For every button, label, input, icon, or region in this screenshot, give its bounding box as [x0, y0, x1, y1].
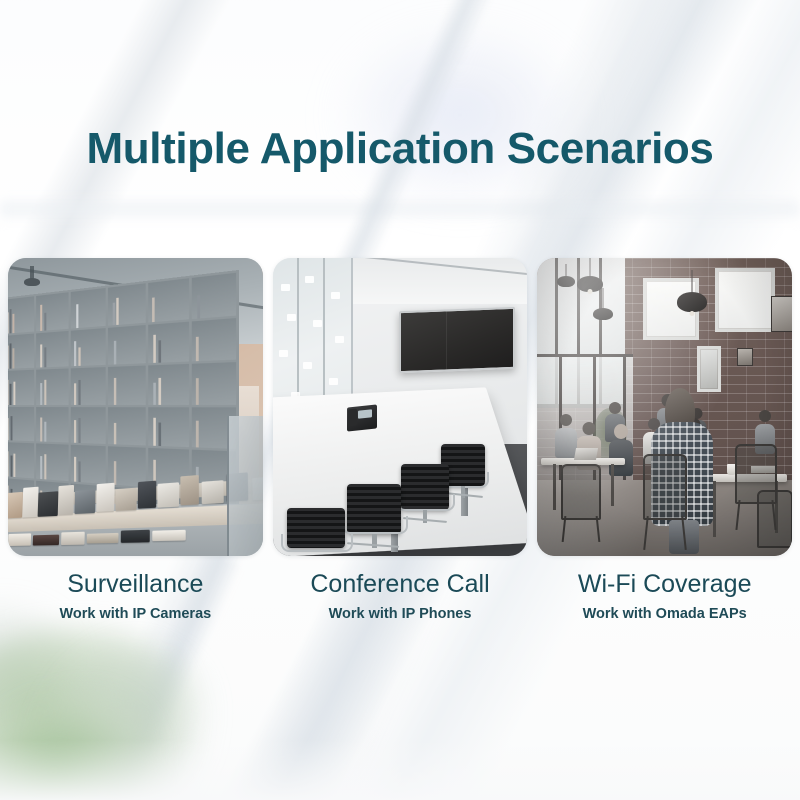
wall-mounted-tv: [399, 307, 515, 373]
page-title: Multiple Application Scenarios: [0, 124, 800, 174]
cafe-coworking-photo: [537, 258, 792, 556]
background-bottom-fade: [0, 740, 800, 800]
scenario-image-wifi-coverage: [537, 258, 792, 556]
library-glass-railing: [227, 416, 263, 556]
caption-subtitle: Work with Omada EAPs: [537, 606, 792, 622]
scenario-card-row: [8, 258, 792, 556]
scenario-image-surveillance: [8, 258, 263, 556]
caption-title: Surveillance: [8, 570, 263, 599]
conference-room-photo: [273, 258, 528, 556]
caption-subtitle: Work with IP Phones: [273, 606, 528, 622]
ip-conference-phone: [347, 406, 377, 430]
caption-title: Wi-Fi Coverage: [537, 570, 792, 599]
conference-chair: [347, 484, 401, 548]
caption-wifi-coverage: Wi-Fi Coverage Work with Omada EAPs: [537, 570, 792, 650]
library-bookshelves-photo: [8, 258, 263, 556]
caption-subtitle: Work with IP Cameras: [8, 606, 263, 622]
scenario-image-conference-call: [273, 258, 528, 556]
conference-chair: [287, 508, 345, 556]
conference-chair: [401, 464, 449, 522]
caption-title: Conference Call: [273, 570, 528, 599]
scenario-caption-row: Surveillance Work with IP Cameras Confer…: [8, 570, 792, 650]
caption-conference-call: Conference Call Work with IP Phones: [273, 570, 528, 650]
caption-surveillance: Surveillance Work with IP Cameras: [8, 570, 263, 650]
cafe-vignette: [537, 258, 792, 556]
